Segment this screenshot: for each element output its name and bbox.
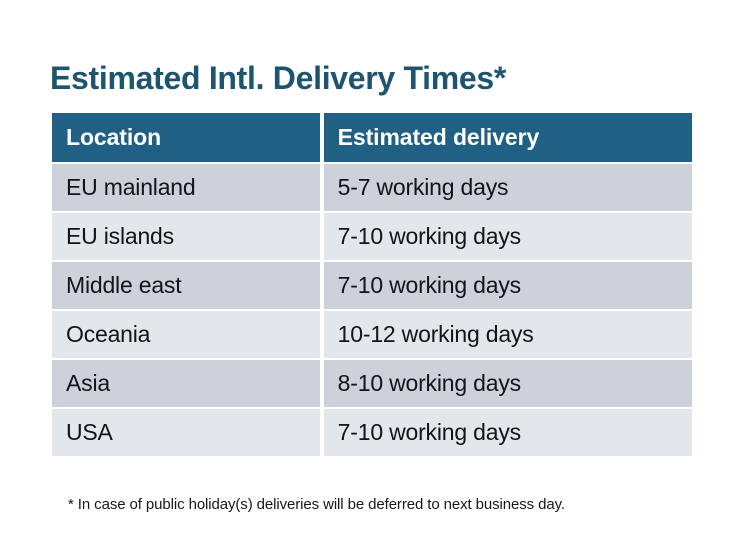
cell-location: EU mainland: [52, 162, 320, 211]
table-header: Location Estimated delivery: [52, 113, 692, 162]
table-body: EU mainland 5-7 working days EU islands …: [52, 162, 692, 456]
cell-location: Middle east: [52, 260, 320, 309]
cell-delivery: 7-10 working days: [320, 260, 692, 309]
cell-location: Asia: [52, 358, 320, 407]
column-header-location: Location: [52, 113, 320, 162]
table-row: USA 7-10 working days: [52, 407, 692, 456]
cell-delivery: 10-12 working days: [320, 309, 692, 358]
delivery-times-table: Location Estimated delivery EU mainland …: [52, 113, 692, 456]
page-title: Estimated Intl. Delivery Times*: [50, 59, 506, 97]
footnote-text: * In case of public holiday(s) deliverie…: [68, 496, 565, 513]
cell-location: Oceania: [52, 309, 320, 358]
delivery-times-panel: Estimated Intl. Delivery Times* Location…: [0, 0, 745, 536]
table-row: Middle east 7-10 working days: [52, 260, 692, 309]
table-row: EU islands 7-10 working days: [52, 211, 692, 260]
column-header-estimated-delivery: Estimated delivery: [320, 113, 692, 162]
cell-delivery: 5-7 working days: [320, 162, 692, 211]
cell-delivery: 7-10 working days: [320, 407, 692, 456]
table-row: Asia 8-10 working days: [52, 358, 692, 407]
cell-delivery: 7-10 working days: [320, 211, 692, 260]
table-row: EU mainland 5-7 working days: [52, 162, 692, 211]
table-header-row: Location Estimated delivery: [52, 113, 692, 162]
cell-location: EU islands: [52, 211, 320, 260]
cell-delivery: 8-10 working days: [320, 358, 692, 407]
cell-location: USA: [52, 407, 320, 456]
table-row: Oceania 10-12 working days: [52, 309, 692, 358]
